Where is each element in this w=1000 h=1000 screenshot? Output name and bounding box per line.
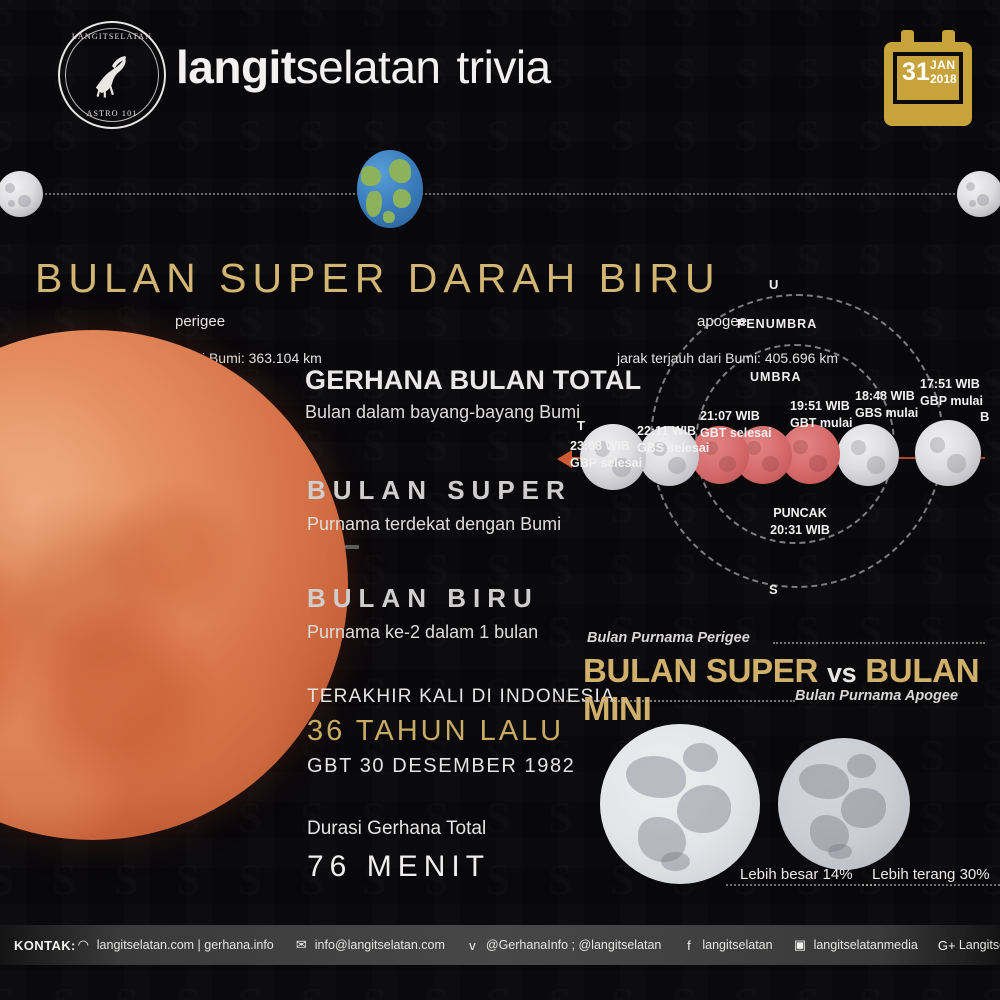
phase-moon-1848 <box>837 424 899 486</box>
umbra-label: UMBRA <box>750 370 802 384</box>
peak-time: 20:31 WIB <box>755 522 845 539</box>
brand-bold: langit <box>176 41 296 93</box>
phase-time-2211: 22:11 WIB <box>637 423 709 440</box>
fact-sub-3: Purnama ke-2 dalam 1 bulan <box>307 622 539 643</box>
brand-title: langitselatantrivia <box>176 40 551 94</box>
phase-label-2308: 23:08 WIB GBP selesai <box>570 438 642 472</box>
infographic-page: SSSSSSSSSSSSSSSSSSSSSSSSSSSSSSSSSSSSSSSS… <box>0 0 1000 1000</box>
footer-email-text: info@langitselatan.com <box>315 938 445 952</box>
rss-icon: ◠ <box>76 937 91 953</box>
calendar-year: 2018 <box>930 73 957 86</box>
footer-item-facebook[interactable]: f langitselatan <box>681 938 772 953</box>
comparison-title-left: BULAN SUPER <box>583 652 818 689</box>
comparison-bottom-caption: Bulan Purnama Apogee <box>795 688 958 704</box>
comparison-top-caption: Bulan Purnama Perigee <box>587 630 750 646</box>
phase-time-2308: 23:08 WIB <box>570 438 642 455</box>
footer-item-twitter[interactable]: ᴠ @GerhanaInfo ; @langitselatan <box>465 938 661 953</box>
fact-heading-2: BULAN SUPER <box>307 475 572 506</box>
brightness-caption: Lebih terang 30% <box>872 866 990 883</box>
minimoon-comparison-disc <box>778 738 910 870</box>
logo-text-bottom: ASTRO 101 <box>60 109 164 118</box>
fact-heading-3: BULAN BIRU <box>307 583 539 614</box>
phase-label-2211: 22:11 WIB GBS selesai <box>637 423 709 457</box>
axis-label-west: T <box>577 418 585 433</box>
supermoon-comparison-disc <box>600 724 760 884</box>
footer-googleplus-text: LangitselatanMedia <box>959 938 1000 952</box>
instagram-icon: ▣ <box>793 937 808 953</box>
size-caption: Lebih besar 14% <box>740 866 853 883</box>
axis-label-north: U <box>769 277 778 292</box>
perigee-apogee-band: perigee jarak terdekat dari Bumi: 363.10… <box>0 150 1000 255</box>
eclipse-path-diagram: U S T B PENUMBRA UMBRA <box>545 272 1000 612</box>
phase-label-1751: 17:51 WIB GBP mulai <box>920 376 983 410</box>
axis-label-south: S <box>769 582 778 597</box>
penumbra-label: PENUMBRA <box>737 317 817 331</box>
footer-twitter-text: @GerhanaInfo ; @langitselatan <box>486 938 661 952</box>
fact-block-bluemoon: BULAN BIRU Purnama ke-2 dalam 1 bulan <box>307 583 539 643</box>
size-caption-dots <box>726 884 876 886</box>
apogee-moon-icon <box>957 171 1000 217</box>
twitter-icon: ᴠ <box>465 938 480 953</box>
perigee-label: perigee <box>175 313 225 330</box>
axis-label-east: B <box>980 409 989 424</box>
duration-label: Durasi Gerhana Total <box>307 818 490 840</box>
calendar-icon: 31 JAN 2018 <box>884 30 972 126</box>
phase-moon-1751 <box>915 420 981 486</box>
googleplus-icon: G+ <box>938 938 953 953</box>
phase-event-1848: GBS mulai <box>855 405 918 422</box>
contact-footer: KONTAK: ◠ langitselatan.com | gerhana.in… <box>0 925 1000 965</box>
logo-text-top: LANGITSELATAN <box>60 32 164 41</box>
fact-block-supermoon: BULAN SUPER Purnama terdekat dengan Bumi <box>307 475 572 535</box>
blood-moon-image <box>0 330 348 840</box>
comparison-top-dots <box>773 642 985 644</box>
duration-block: Durasi Gerhana Total 76 MENIT <box>307 818 490 884</box>
brightness-caption-dots <box>862 884 1000 886</box>
phase-time-1951: 19:51 WIB <box>790 398 853 415</box>
phase-event-2107: GBT selesai <box>700 425 772 442</box>
brand-light: selatan <box>296 41 441 93</box>
phase-time-1848: 18:48 WIB <box>855 388 918 405</box>
calendar-day: 31 <box>902 60 930 85</box>
header: LANGITSELATAN ASTRO 101 langitselatantri… <box>0 0 1000 150</box>
footer-item-website[interactable]: ◠ langitselatan.com | gerhana.info <box>76 937 274 953</box>
horse-rider-icon <box>85 48 139 102</box>
earth-icon <box>357 150 423 228</box>
footer-instagram-text: langitselatanmedia <box>814 938 918 952</box>
phase-time-2107: 21:07 WIB <box>700 408 772 425</box>
peak-label-block: PUNCAK 20:31 WIB <box>755 505 845 539</box>
fact-sub-2: Purnama terdekat dengan Bumi <box>307 514 572 535</box>
distance-dotted-line <box>22 193 978 195</box>
phase-event-2211: GBS selesai <box>637 440 709 457</box>
phase-time-1751: 17:51 WIB <box>920 376 983 393</box>
duration-value: 76 MENIT <box>307 850 490 884</box>
comparison-bottom-dots <box>555 700 795 702</box>
phase-label-1848: 18:48 WIB GBS mulai <box>855 388 918 422</box>
phase-event-1951: GBT mulai <box>790 415 853 432</box>
footer-item-email[interactable]: ✉ info@langitselatan.com <box>294 937 445 953</box>
langitselatan-logo: LANGITSELATAN ASTRO 101 <box>58 21 166 129</box>
email-icon: ✉ <box>294 937 309 953</box>
brand-trivia: trivia <box>457 41 551 93</box>
phase-event-1751: GBP mulai <box>920 393 983 410</box>
footer-facebook-text: langitselatan <box>702 938 772 952</box>
comparison-title-vs: vs <box>827 658 856 688</box>
calendar-month: JAN <box>930 59 956 72</box>
facebook-icon: f <box>681 938 696 953</box>
peak-label: PUNCAK <box>755 505 845 522</box>
footer-website-text: langitselatan.com | gerhana.info <box>97 938 274 952</box>
phase-label-2107: 21:07 WIB GBT selesai <box>700 408 772 442</box>
separator-dash <box>345 545 359 549</box>
contact-label: KONTAK: <box>14 938 76 953</box>
phase-event-2308: GBP selesai <box>570 455 642 472</box>
footer-item-instagram[interactable]: ▣ langitselatanmedia <box>793 937 918 953</box>
footer-item-googleplus[interactable]: G+ LangitselatanMedia <box>938 938 1000 953</box>
phase-label-1951: 19:51 WIB GBT mulai <box>790 398 853 432</box>
perigee-moon-icon <box>0 171 43 217</box>
